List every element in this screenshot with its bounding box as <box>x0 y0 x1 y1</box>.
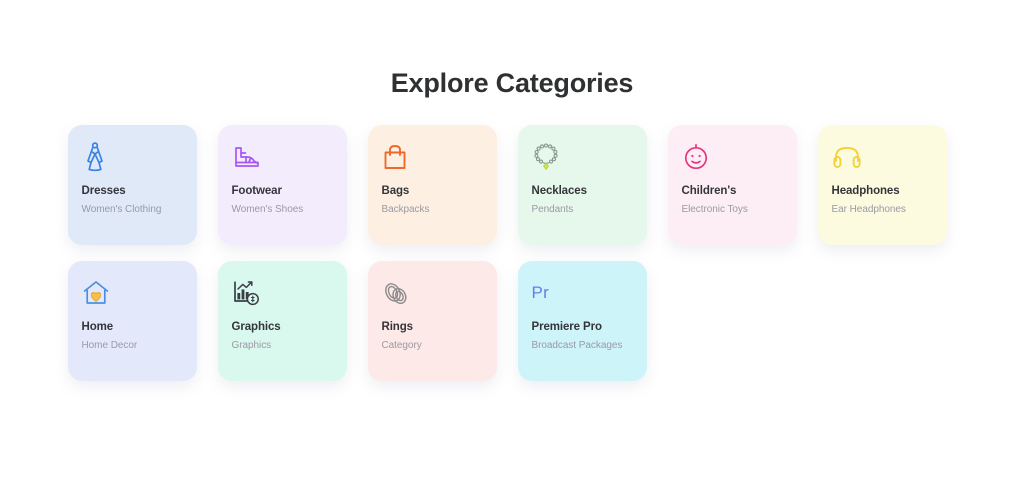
category-grid-wrapper: Dresses Women's Clothing Footwear Women'… <box>0 125 1024 381</box>
category-title: Dresses <box>82 184 183 198</box>
explore-categories-page: Explore Categories Dresses Women's Cloth… <box>0 0 1024 489</box>
page-title: Explore Categories <box>0 0 1024 100</box>
category-subtitle: Broadcast Packages <box>532 339 633 352</box>
premiere-pro-icon: Pr <box>532 278 633 308</box>
category-title: Footwear <box>232 184 333 198</box>
headphones-icon <box>832 142 933 172</box>
category-title: Rings <box>382 320 483 334</box>
category-title: Headphones <box>832 184 933 198</box>
category-card-graphics[interactable]: Graphics Graphics <box>218 261 347 381</box>
category-title: Necklaces <box>532 184 633 198</box>
category-card-premiere-pro[interactable]: Pr Premiere Pro Broadcast Packages <box>518 261 647 381</box>
category-card-bags[interactable]: Bags Backpacks <box>368 125 497 245</box>
category-card-dresses[interactable]: Dresses Women's Clothing <box>68 125 197 245</box>
category-subtitle: Home Decor <box>82 339 183 352</box>
category-subtitle: Backpacks <box>382 203 483 216</box>
baby-face-icon <box>682 142 783 172</box>
shopping-bag-icon <box>382 142 483 172</box>
category-card-childrens[interactable]: Children's Electronic Toys <box>668 125 797 245</box>
dress-icon <box>82 142 183 172</box>
category-grid: Dresses Women's Clothing Footwear Women'… <box>68 125 957 381</box>
category-title: Children's <box>682 184 783 198</box>
premiere-pro-glyph: Pr <box>532 278 550 308</box>
category-subtitle: Category <box>382 339 483 352</box>
wedding-rings-icon <box>382 278 483 308</box>
category-subtitle: Pendants <box>532 203 633 216</box>
category-title: Graphics <box>232 320 333 334</box>
category-card-home[interactable]: Home Home Decor <box>68 261 197 381</box>
boot-icon <box>232 142 333 172</box>
necklace-icon <box>532 142 633 172</box>
category-title: Bags <box>382 184 483 198</box>
category-subtitle: Graphics <box>232 339 333 352</box>
category-subtitle: Women's Shoes <box>232 203 333 216</box>
category-card-necklaces[interactable]: Necklaces Pendants <box>518 125 647 245</box>
category-subtitle: Electronic Toys <box>682 203 783 216</box>
category-card-footwear[interactable]: Footwear Women's Shoes <box>218 125 347 245</box>
category-title: Premiere Pro <box>532 320 633 334</box>
category-subtitle: Ear Headphones <box>832 203 933 216</box>
category-card-headphones[interactable]: Headphones Ear Headphones <box>818 125 947 245</box>
house-heart-icon <box>82 278 183 308</box>
category-card-rings[interactable]: Rings Category <box>368 261 497 381</box>
bar-chart-coin-icon <box>232 278 333 308</box>
category-subtitle: Women's Clothing <box>82 203 183 216</box>
category-title: Home <box>82 320 183 334</box>
